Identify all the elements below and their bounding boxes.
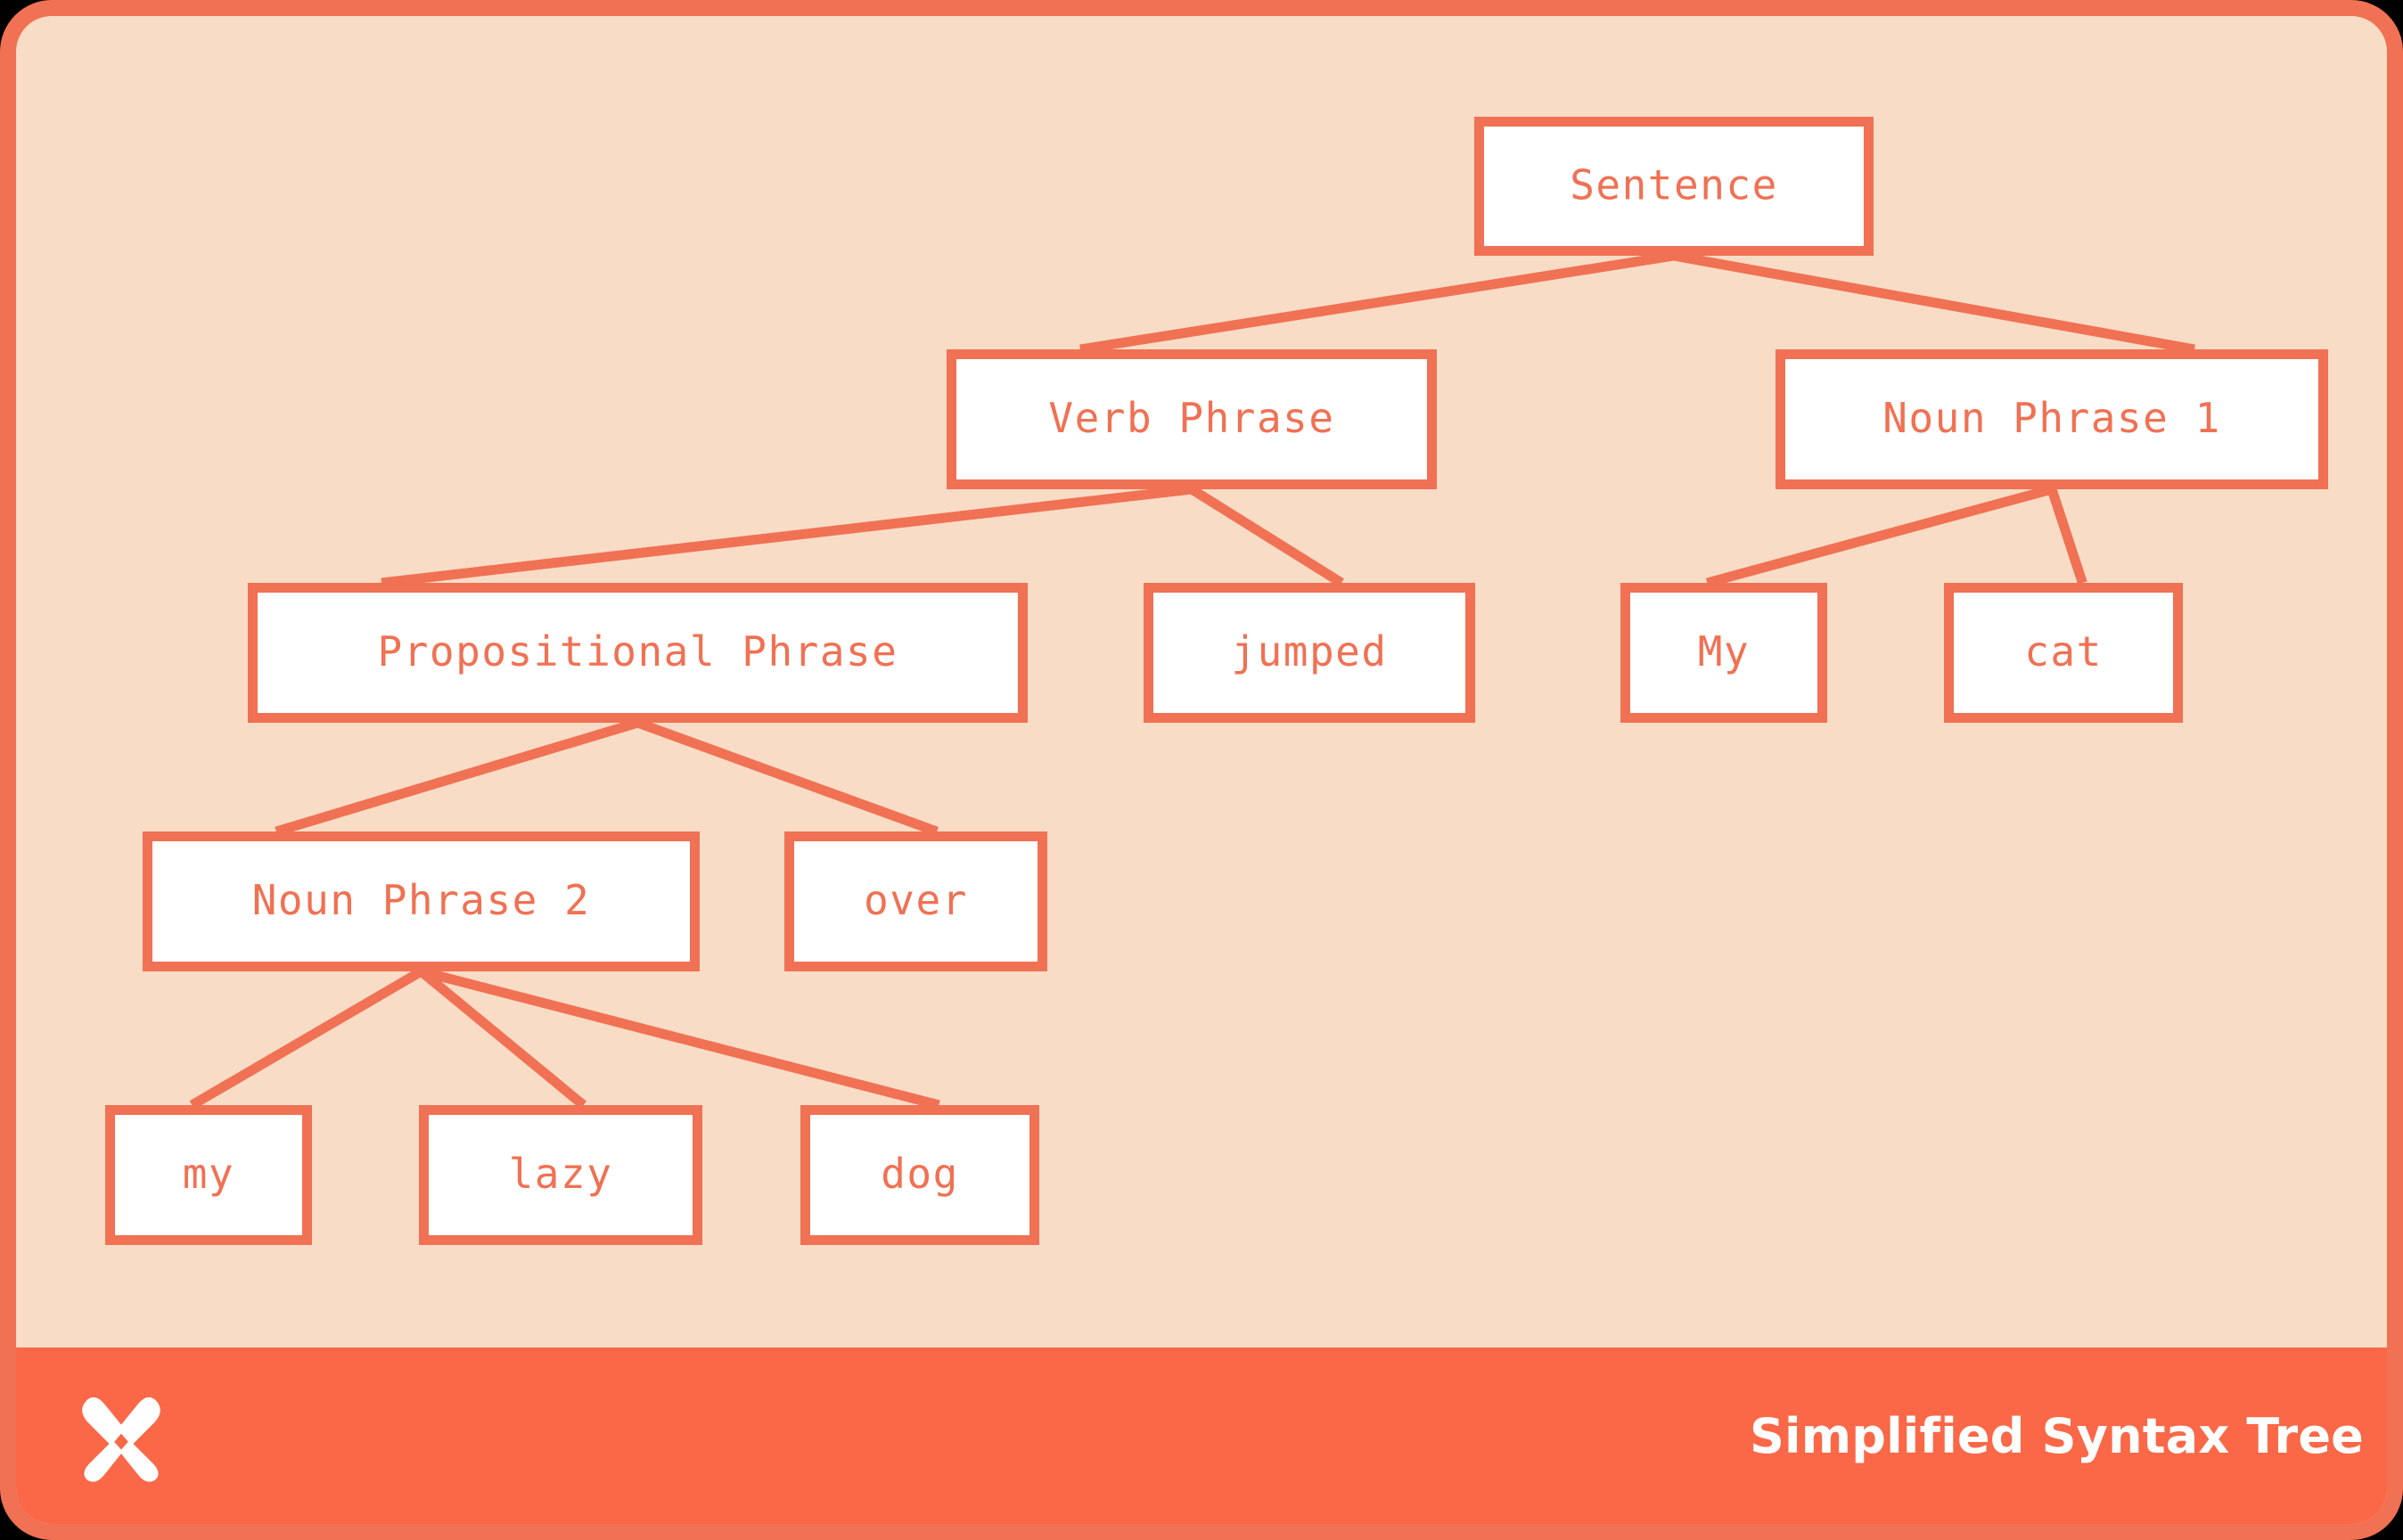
screenshot-root: SentenceVerb PhraseNoun Phrase 1Proposit…	[0, 0, 2403, 1540]
tree-node-lazy[interactable]: lazy	[424, 1110, 698, 1241]
tree-node-jumped[interactable]: jumped	[1149, 588, 1471, 718]
tree-edge-sentence-to-noun_phrase_1	[1674, 256, 2194, 349]
footer-bar: Simplified Syntax Tree	[16, 1347, 2403, 1524]
tree-node-label: My	[1698, 627, 1750, 676]
tree-node-label: cat	[2024, 627, 2103, 676]
tree-edge-verb_phrase-to-prop_phrase	[381, 489, 1192, 583]
tree-node-label: dog	[881, 1150, 959, 1198]
tree-node-label: Sentence	[1570, 161, 1778, 209]
tree-node-my_low[interactable]: my	[111, 1110, 308, 1241]
tree-node-noun_phrase_2[interactable]: Noun Phrase 2	[148, 837, 695, 967]
tree-edge-sentence-to-verb_phrase	[1080, 256, 1674, 349]
tree-node-noun_phrase_1[interactable]: Noun Phrase 1	[1781, 355, 2324, 485]
tree-node-sentence[interactable]: Sentence	[1480, 122, 1869, 251]
tree-node-label: Verb Phrase	[1048, 394, 1334, 442]
tree-edge-prop_phrase-to-noun_phrase_2	[276, 723, 638, 831]
tree-node-label: my	[183, 1150, 234, 1198]
tree-node-label: Propositional Phrase	[378, 627, 898, 676]
butterfly-x-logo-icon	[71, 1386, 171, 1486]
tree-edge-noun_phrase_1-to-cat	[2052, 489, 2082, 583]
tree-edge-verb_phrase-to-jumped	[1192, 489, 1341, 583]
tree-nodes-group: SentenceVerb PhraseNoun Phrase 1Proposit…	[111, 122, 2324, 1241]
tree-edge-noun_phrase_2-to-my_low	[192, 971, 421, 1105]
tree-node-label: over	[864, 876, 968, 924]
tree-edge-prop_phrase-to-over	[638, 723, 938, 831]
tree-node-prop_phrase[interactable]: Propositional Phrase	[253, 588, 1023, 718]
tree-node-dog[interactable]: dog	[806, 1110, 1035, 1241]
tree-node-over[interactable]: over	[790, 837, 1043, 967]
tree-node-label: lazy	[509, 1150, 613, 1198]
footer-title: Simplified Syntax Tree	[1750, 1408, 2364, 1464]
tree-node-label: Noun Phrase 1	[1882, 394, 2221, 442]
tree-edge-noun_phrase_1-to-my_cap	[1707, 489, 2052, 583]
tree-node-label: Noun Phrase 2	[252, 876, 591, 924]
tree-node-label: jumped	[1231, 627, 1387, 676]
syntax-tree-card: SentenceVerb PhraseNoun Phrase 1Proposit…	[0, 0, 2403, 1540]
tree-node-my_cap[interactable]: My	[1626, 588, 1823, 718]
syntax-tree-canvas: SentenceVerb PhraseNoun Phrase 1Proposit…	[16, 16, 2403, 1540]
tree-node-cat[interactable]: cat	[1949, 588, 2178, 718]
tree-node-verb_phrase[interactable]: Verb Phrase	[952, 355, 1432, 485]
